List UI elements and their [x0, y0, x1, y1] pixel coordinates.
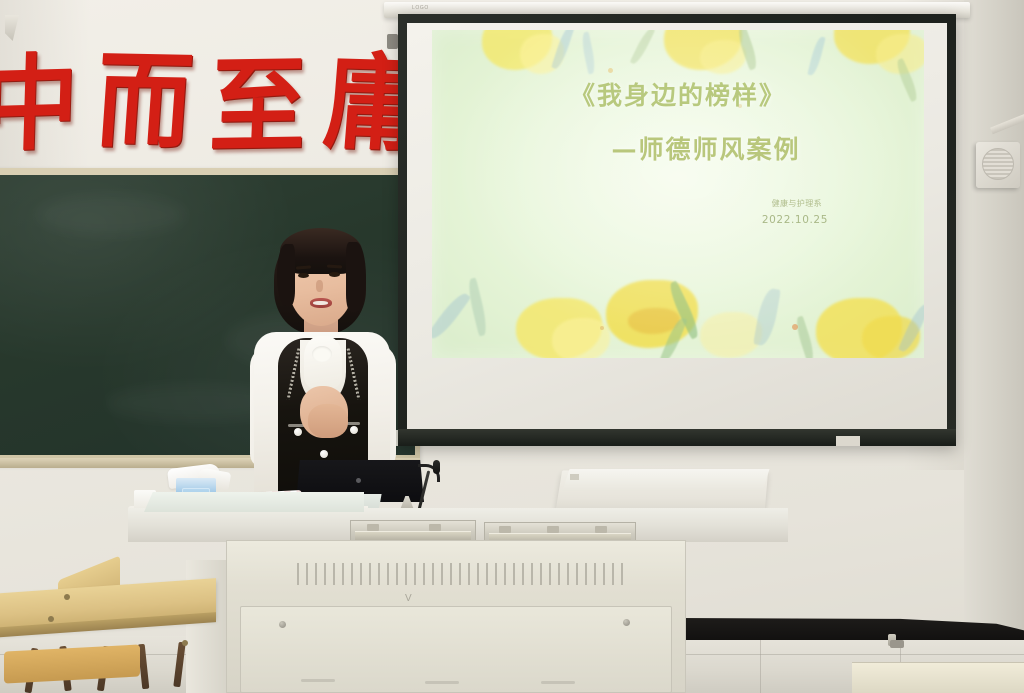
monitor-power-led-icon [356, 478, 361, 483]
screen-hook [387, 34, 398, 49]
lectern-right-lid [562, 469, 769, 491]
lectern-access-panel[interactable] [240, 606, 672, 693]
desk-screw-1 [64, 594, 70, 600]
presenter-button-3 [320, 450, 328, 458]
presenter-hair-left [277, 244, 295, 306]
floor-corner-box [852, 662, 1024, 693]
presenter-hands-lower [308, 404, 348, 438]
drawer-notch-5 [595, 526, 607, 533]
wall-motto: 中而至庸 [0, 50, 441, 159]
presenter-bow-tie [304, 336, 342, 388]
slide-department: 健康与护理系 [772, 198, 822, 209]
drawer-notch-2 [429, 524, 441, 531]
panel-screw-right [623, 619, 630, 626]
motto-glyph-1: 中 [0, 48, 98, 160]
flower-bot-2 [552, 318, 610, 358]
screen-bar-tail [836, 436, 860, 446]
leaf-top-3 [630, 30, 656, 66]
speaker-grill-icon [982, 148, 1014, 180]
classroom-photo: 中而至庸 LOGO [0, 0, 1024, 693]
panel-slot-3 [541, 681, 575, 684]
housing-brand-label: LOGO [412, 5, 429, 11]
lectern: V [128, 478, 788, 693]
leaf-bot-2 [465, 278, 490, 337]
leaf-top-2 [580, 32, 598, 75]
panel-slot-1 [301, 679, 335, 682]
presenter-hair-right [346, 242, 366, 312]
right-wall-column [964, 0, 1024, 640]
drawer-notch-1 [367, 524, 379, 531]
microphone-head-icon [433, 460, 440, 474]
projected-slide: 《我身边的榜样》 —师德师风案例 健康与护理系 2022.10.25 [432, 30, 924, 358]
lectern-vents [297, 563, 627, 585]
lectern-vent-mark: V [405, 593, 412, 604]
screen-weight-bar [398, 429, 956, 446]
motto-glyph-2: 而 [92, 47, 213, 158]
presenter-eye-left [298, 273, 309, 278]
lectern-top-highlight [144, 492, 364, 512]
wall-outlet [890, 640, 904, 648]
motto-glyph-3: 至 [208, 51, 326, 162]
drawer-notch-3 [499, 526, 511, 533]
lectern-right-latch [570, 474, 579, 480]
presenter-teeth [313, 301, 328, 305]
presenter [238, 228, 408, 496]
panel-slot-2 [425, 681, 459, 684]
slide-title: 《我身边的榜样》 [432, 76, 924, 112]
leaf-bot-5 [753, 287, 781, 347]
presenter-nose [316, 280, 323, 292]
presenter-eye-right [329, 272, 340, 277]
presenter-bow-knot [312, 346, 332, 362]
leaf-top-5 [807, 36, 825, 77]
slide-dot-4 [792, 324, 798, 330]
wall-speaker [976, 142, 1020, 188]
presenter-button-1 [294, 428, 302, 436]
leaf-bot-6 [793, 316, 817, 358]
desk-screw-2 [48, 616, 54, 622]
presenter-button-2 [350, 426, 358, 434]
flower-bot-5 [700, 312, 762, 358]
slide-dot-1 [608, 68, 613, 73]
slide-dot-5 [600, 326, 604, 330]
slide-date: 2022.10.25 [762, 214, 828, 226]
slide-subtitle: —师德师风案例 [432, 130, 924, 166]
drawer-notch-4 [547, 526, 559, 533]
flower-top-4 [700, 40, 746, 74]
panel-screw-left [279, 621, 286, 628]
leaf-bot-1 [432, 289, 471, 343]
